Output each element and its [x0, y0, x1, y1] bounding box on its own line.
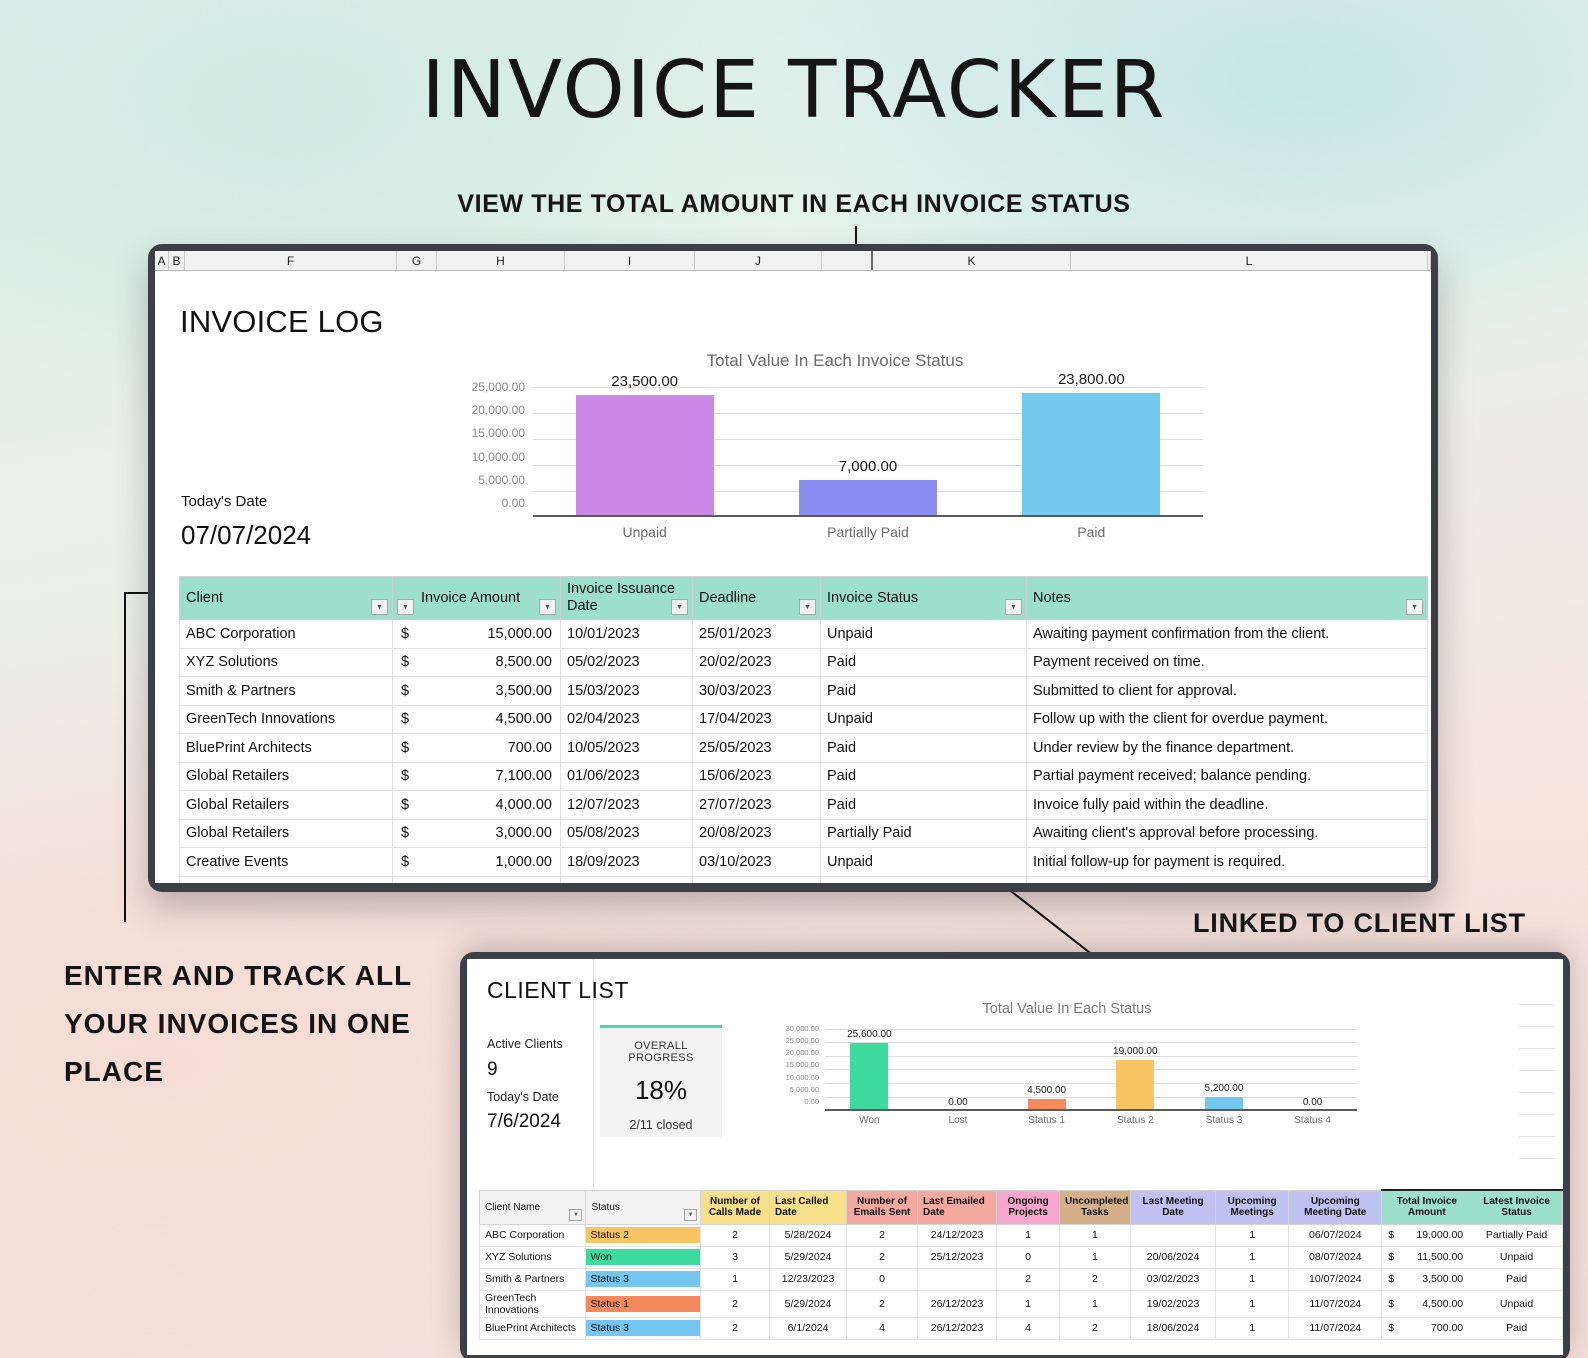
cell-issuance-date[interactable]: 02/04/2023 — [561, 705, 693, 734]
cell-client[interactable]: Global Retailers — [180, 791, 393, 820]
currency-symbol: $ — [401, 882, 409, 883]
cell-last-emailed[interactable]: 25/12/2023 — [918, 1246, 997, 1268]
table-row[interactable]: GreenTech Innovations$4,500.0002/04/2023… — [180, 705, 1428, 734]
bar-rect — [576, 395, 714, 517]
cell-issuance-date[interactable]: 15/03/2023 — [561, 677, 693, 706]
y-tick: 25,000.00 — [453, 380, 525, 394]
connector-line-left — [124, 592, 126, 922]
cell-notes[interactable]: Awaiting client's approval before proces… — [1027, 819, 1428, 848]
client-list-title: CLIENT LIST — [487, 977, 629, 1004]
cell-last-meeting-date[interactable]: 19/02/2023 — [1130, 1290, 1215, 1317]
table-row[interactable]: GreenTech InnovationsStatus 125/29/20242… — [480, 1290, 1563, 1317]
cell-total-invoice-amount[interactable]: $4,500.00 — [1382, 1290, 1471, 1317]
chart-title: Total Value In Each Invoice Status — [455, 351, 1215, 371]
cell-last-called[interactable]: 5/29/2024 — [770, 1246, 847, 1268]
cell-status[interactable]: Status 1 — [586, 1290, 701, 1317]
cell-status[interactable]: Status 2 — [586, 1224, 701, 1246]
bar-paid: 23,800.00 — [1016, 393, 1166, 517]
bar-value-label: 19,000.00 — [1089, 1046, 1181, 1057]
col-header-label: Status — [591, 1202, 619, 1213]
cell-issuance-date[interactable]: 10/01/2023 — [561, 620, 693, 649]
column-header-I[interactable]: I — [565, 251, 695, 270]
cell-deadline[interactable]: 17/04/2023 — [693, 705, 821, 734]
column-header-H[interactable]: H — [437, 251, 565, 270]
status-badge: Status 2 — [586, 1227, 700, 1243]
cell-invoice-status[interactable]: Unpaid — [821, 848, 1027, 877]
x-tick: Paid — [1016, 524, 1166, 540]
currency-symbol: $ — [1388, 1298, 1394, 1310]
cell-last-called[interactable]: 12/23/2023 — [770, 1268, 847, 1290]
chart-x-axis — [533, 515, 1203, 517]
filter-dropdown-icon[interactable]: ▼ — [671, 599, 688, 615]
cell-upcoming-meetings[interactable]: 1 — [1216, 1246, 1289, 1268]
currency-symbol: $ — [1388, 1322, 1394, 1334]
cell-total-invoice-amount[interactable]: $19,000.00 — [1382, 1224, 1471, 1246]
cell-last-called[interactable]: 5/28/2024 — [770, 1224, 847, 1246]
cell-invoice-status[interactable]: Partially Paid — [821, 819, 1027, 848]
col-header-client-name[interactable]: Client Name ▼ — [480, 1190, 586, 1224]
cell-issuance-date[interactable]: 01/06/2023 — [561, 762, 693, 791]
cell-calls-made[interactable]: 2 — [701, 1317, 770, 1339]
column-header-overflow — [1428, 251, 1431, 270]
cell-emails-sent[interactable]: 2 — [847, 1246, 918, 1268]
column-header-blank[interactable] — [822, 251, 873, 270]
y-tick: 15,000.00 — [453, 426, 525, 440]
status-badge: Status 3 — [586, 1320, 700, 1336]
invoice-log-sheet-frame: A B F G H I J K L INVOICE LOG Today's Da… — [155, 251, 1431, 883]
chart-plot-area: 30,000.00 25,000.00 20,000.00 15,000.00 … — [825, 1029, 1357, 1111]
chart-x-axis-labels: Won Lost Status 1 Status 2 Status 3 Stat… — [825, 1115, 1357, 1126]
currency-symbol: $ — [401, 654, 409, 670]
invoice-log-title: INVOICE LOG — [180, 304, 384, 340]
table-row[interactable]: XYZ SolutionsWon35/29/2024225/12/2023012… — [480, 1246, 1563, 1268]
cell-client-name[interactable]: Smith & Partners — [480, 1268, 586, 1290]
col-header-label: Invoice Amount — [399, 590, 554, 607]
chart-y-axis-labels: 25,000.00 20,000.00 15,000.00 10,000.00 … — [453, 380, 525, 510]
cell-notes[interactable]: Invoice fully paid within the deadline. — [1027, 791, 1428, 820]
cell-last-emailed[interactable]: 26/12/2023 — [918, 1317, 997, 1339]
x-tick: Status 3 — [1188, 1115, 1260, 1126]
cell-invoice-status[interactable]: Unpaid — [821, 705, 1027, 734]
col-header-last-emailed[interactable]: Last Emailed Date — [918, 1190, 997, 1224]
cell-client-name[interactable]: BluePrint Architects — [480, 1317, 586, 1339]
bar-value-label: 5,200.00 — [1178, 1083, 1270, 1094]
y-tick: 10,000.00 — [767, 1073, 819, 1082]
col-header-ongoing-projects[interactable]: Ongoing Projects — [997, 1190, 1060, 1224]
cell-upcoming-meeting-date[interactable]: 11/07/2024 — [1289, 1317, 1382, 1339]
cell-emails-sent[interactable]: 4 — [847, 1317, 918, 1339]
cell-issuance-date[interactable]: 05/02/2023 — [561, 648, 693, 677]
overall-progress-card: OVERALL PROGRESS 18% 2/11 closed — [600, 1025, 722, 1137]
cell-client[interactable]: XYZ Solutions — [180, 648, 393, 677]
cell-client[interactable]: Global Retailers — [180, 762, 393, 791]
filter-dropdown-icon[interactable]: ▼ — [397, 599, 414, 615]
currency-symbol: $ — [401, 768, 409, 784]
column-header-A[interactable]: A — [155, 251, 169, 270]
filter-dropdown-icon[interactable]: ▼ — [371, 599, 388, 615]
cell-deadline[interactable]: 03/10/2023 — [693, 848, 821, 877]
cell-deadline[interactable]: 25/01/2023 — [693, 620, 821, 649]
cell-upcoming-meetings[interactable]: 1 — [1216, 1224, 1289, 1246]
cell-deadline[interactable]: 27/07/2023 — [693, 791, 821, 820]
bar-value-label: 0.00 — [912, 1097, 1004, 1108]
cell-last-emailed[interactable]: 26/12/2023 — [918, 1290, 997, 1317]
column-header-L[interactable]: L — [1071, 251, 1428, 270]
cell-last-emailed[interactable]: 24/12/2023 — [918, 1224, 997, 1246]
bar-partially-paid: 7,000.00 — [793, 480, 943, 517]
currency-symbol: $ — [401, 683, 409, 699]
active-clients-label: Active Clients — [487, 1037, 563, 1051]
x-tick: Won — [833, 1115, 905, 1126]
chart-x-axis-labels: Unpaid Partially Paid Paid — [533, 524, 1203, 540]
col-header-last-meeting[interactable]: Last Meeting Date — [1130, 1190, 1215, 1224]
col-header-label: Notes — [1033, 590, 1421, 607]
x-tick: Status 2 — [1099, 1115, 1171, 1126]
col-header-latest-invoice-status[interactable]: Latest Invoice Status — [1471, 1190, 1562, 1224]
cell-latest-invoice-status[interactable]: Unpaid — [1471, 1290, 1562, 1317]
cell-latest-invoice-status[interactable]: Unpaid — [1471, 1246, 1562, 1268]
table-row[interactable]: Global Retailers$3,000.0005/08/202320/08… — [180, 819, 1428, 848]
y-tick: 20,000.00 — [767, 1048, 819, 1057]
cell-client[interactable]: ABC Corporation — [180, 620, 393, 649]
client-todays-date-value: 7/6/2024 — [487, 1111, 561, 1133]
cell-client-name[interactable]: GreenTech Innovations — [480, 1290, 586, 1317]
cell-invoice-status[interactable]: Partially Paid — [821, 876, 1027, 883]
cell-upcoming-meetings[interactable]: 1 — [1216, 1290, 1289, 1317]
x-tick: Partially Paid — [793, 524, 943, 540]
bar-value-label: 7,000.00 — [793, 458, 943, 475]
cell-latest-invoice-status[interactable]: Paid — [1471, 1317, 1562, 1339]
bar-value-label: 0.00 — [1267, 1097, 1359, 1108]
col-header-label: Client Name — [485, 1202, 540, 1213]
currency-symbol: $ — [1388, 1273, 1394, 1285]
cell-invoice-amount[interactable]: $7,100.00 — [393, 762, 561, 791]
bar-rect — [1022, 393, 1160, 517]
cell-notes[interactable]: Payment reminder sent to the client. — [1027, 876, 1428, 883]
cell-ongoing-projects[interactable]: 1 — [997, 1290, 1060, 1317]
cell-calls-made[interactable]: 1 — [701, 1268, 770, 1290]
status-badge: Status 3 — [586, 1271, 700, 1287]
cell-deadline[interactable]: 10/02/2024 — [693, 876, 821, 883]
cell-uncompleted-tasks[interactable]: 1 — [1059, 1224, 1130, 1246]
table-row[interactable]: BluePrint Architects$700.0010/05/202325/… — [180, 734, 1428, 763]
client-list-window: CLIENT LIST Active Clients 9 Today's Dat… — [460, 952, 1570, 1358]
y-tick: 5,000.00 — [453, 473, 525, 487]
cell-client[interactable]: Creative Events — [180, 848, 393, 877]
cell-upcoming-meetings[interactable]: 1 — [1216, 1317, 1289, 1339]
client-todays-date-label: Today's Date — [487, 1090, 559, 1104]
col-header-status[interactable]: Status ▼ — [586, 1190, 701, 1224]
invoice-log-window: A B F G H I J K L INVOICE LOG Today's Da… — [148, 244, 1438, 892]
col-header-label: Invoice Issuance Date — [567, 581, 686, 615]
cell-upcoming-meetings[interactable]: 1 — [1216, 1268, 1289, 1290]
cell-invoice-amount[interactable]: $15,000.00 — [393, 620, 561, 649]
col-header-label: Invoice Status — [827, 590, 1020, 607]
x-tick: Lost — [922, 1115, 994, 1126]
y-tick: 15,000.00 — [767, 1060, 819, 1069]
cell-last-called[interactable]: 6/1/2024 — [770, 1317, 847, 1339]
chart-x-axis — [825, 1109, 1357, 1111]
cell-invoice-amount[interactable]: $3,500.00 — [393, 677, 561, 706]
currency-symbol: $ — [401, 626, 409, 642]
invoice-log-sheet: INVOICE LOG Today's Date 07/07/2024 Tota… — [155, 271, 1431, 883]
table-row[interactable]: ABC Corporation$15,000.0010/01/202325/01… — [180, 620, 1428, 649]
page-title: INVOICE TRACKER — [0, 44, 1588, 136]
cell-total-invoice-amount[interactable]: $700.00 — [1382, 1317, 1471, 1339]
sheet-row-lines — [1519, 1004, 1555, 1180]
bar-rect — [799, 480, 937, 517]
column-header-B[interactable]: B — [169, 251, 185, 270]
cell-deadline[interactable]: 25/05/2023 — [693, 734, 821, 763]
cell-issuance-date[interactable]: 18/09/2023 — [561, 848, 693, 877]
table-row[interactable]: Global Retailers$7,100.0001/06/202315/06… — [180, 762, 1428, 791]
client-list-sheet: CLIENT LIST Active Clients 9 Today's Dat… — [467, 959, 1563, 1355]
bar-value-label: 23,800.00 — [1016, 371, 1166, 388]
col-header-notes[interactable]: Notes ▼ — [1027, 577, 1428, 620]
cell-upcoming-meeting-date[interactable]: 06/07/2024 — [1289, 1224, 1382, 1246]
cell-notes[interactable]: Awaiting payment confirmation from the c… — [1027, 620, 1428, 649]
cell-last-called[interactable]: 5/29/2024 — [770, 1290, 847, 1317]
currency-symbol: $ — [401, 797, 409, 813]
cell-emails-sent[interactable]: 2 — [847, 1290, 918, 1317]
cell-client[interactable]: Global Retailers — [180, 819, 393, 848]
currency-symbol: $ — [401, 854, 409, 870]
chart-plot-area: 25,000.00 20,000.00 15,000.00 10,000.00 … — [533, 387, 1203, 517]
cell-uncompleted-tasks[interactable]: 1 — [1059, 1290, 1130, 1317]
y-tick: 25,000.00 — [767, 1036, 819, 1045]
bar-rect — [1116, 1060, 1154, 1111]
cell-invoice-status[interactable]: Paid — [821, 677, 1027, 706]
filter-dropdown-icon[interactable]: ▼ — [684, 1209, 697, 1221]
y-tick: 30,000.00 — [767, 1024, 819, 1033]
overall-progress-value: 18% — [600, 1075, 722, 1106]
cell-uncompleted-tasks[interactable]: 2 — [1059, 1268, 1130, 1290]
bar-rect — [850, 1043, 888, 1111]
status-badge: Won — [586, 1249, 700, 1265]
cell-invoice-amount[interactable]: $4,000.00 — [393, 791, 561, 820]
filter-dropdown-icon[interactable]: ▼ — [539, 599, 556, 615]
cell-invoice-status[interactable]: Paid — [821, 762, 1027, 791]
annotation-left: ENTER AND TRACK ALL YOUR INVOICES IN ONE… — [64, 952, 464, 1096]
overall-progress-sub: 2/11 closed — [600, 1118, 722, 1132]
cell-issuance-date[interactable]: 10/02/2024 — [561, 876, 693, 883]
filter-dropdown-icon[interactable]: ▼ — [1406, 599, 1423, 615]
cell-latest-invoice-status[interactable]: Paid — [1471, 1268, 1562, 1290]
cell-uncompleted-tasks[interactable]: 1 — [1059, 1246, 1130, 1268]
cell-deadline[interactable]: 30/03/2023 — [693, 677, 821, 706]
chart-bars: 23,500.00 7,000.00 23,800.00 — [533, 387, 1203, 517]
cell-invoice-amount[interactable]: $700.00 — [393, 734, 561, 763]
cell-deadline[interactable]: 15/06/2023 — [693, 762, 821, 791]
cell-invoice-status[interactable]: Paid — [821, 734, 1027, 763]
cell-notes[interactable]: Initial follow-up for payment is require… — [1027, 848, 1428, 877]
cell-deadline[interactable]: 20/02/2023 — [693, 648, 821, 677]
cell-issuance-date[interactable]: 12/07/2023 — [561, 791, 693, 820]
cell-last-emailed[interactable] — [918, 1268, 997, 1290]
cell-ongoing-projects[interactable]: 1 — [997, 1224, 1060, 1246]
cell-last-meeting-date[interactable] — [1130, 1224, 1215, 1246]
cell-upcoming-meeting-date[interactable]: 10/07/2024 — [1289, 1268, 1382, 1290]
overall-progress-label: OVERALL PROGRESS — [600, 1040, 722, 1064]
cell-total-invoice-amount[interactable]: $3,500.00 — [1382, 1268, 1471, 1290]
filter-dropdown-icon[interactable]: ▼ — [569, 1209, 582, 1221]
cell-upcoming-meeting-date[interactable]: 11/07/2024 — [1289, 1290, 1382, 1317]
client-table-header-row: Client Name ▼ Status ▼ Number of Calls M… — [480, 1190, 1563, 1224]
cell-deadline[interactable]: 20/08/2023 — [693, 819, 821, 848]
cell-client[interactable]: Smith & Partners — [180, 677, 393, 706]
cell-ongoing-projects[interactable]: 4 — [997, 1317, 1060, 1339]
status-badge: Status 1 — [586, 1296, 700, 1312]
col-header-total-invoice-amount[interactable]: Total Invoice Amount — [1382, 1190, 1471, 1224]
client-table: Client Name ▼ Status ▼ Number of Calls M… — [479, 1189, 1563, 1340]
table-row[interactable]: Smith & Partners$3,500.0015/03/202330/03… — [180, 677, 1428, 706]
cell-status[interactable]: Status 3 — [586, 1268, 701, 1290]
col-header-deadline[interactable]: Deadline ▼ — [693, 577, 821, 620]
cell-uncompleted-tasks[interactable]: 2 — [1059, 1317, 1130, 1339]
x-tick: Status 1 — [1011, 1115, 1083, 1126]
col-header-emails-sent[interactable]: Number of Emails Sent — [847, 1190, 918, 1224]
column-header-K[interactable]: K — [873, 251, 1071, 270]
invoice-table-header-row: Client ▼ Invoice Amount ▼ ▼ Invoice Issu… — [180, 577, 1428, 620]
cell-notes[interactable]: Submitted to client for approval. — [1027, 677, 1428, 706]
cell-calls-made[interactable]: 3 — [701, 1246, 770, 1268]
cell-client[interactable]: ABC Corporation — [180, 876, 393, 883]
todays-date-value: 07/07/2024 — [181, 520, 311, 551]
bar-value-label: 25,600.00 — [823, 1029, 915, 1040]
spreadsheet-column-headers: A B F G H I J K L — [155, 251, 1431, 271]
cell-invoice-amount[interactable]: $3,000.00 — [393, 819, 561, 848]
y-tick: 0.00 — [767, 1097, 819, 1106]
cell-invoice-amount[interactable]: $8,500.00 — [393, 648, 561, 677]
currency-symbol: $ — [401, 825, 409, 841]
annotation-top: VIEW THE TOTAL AMOUNT IN EACH INVOICE ST… — [0, 190, 1588, 219]
filter-dropdown-icon[interactable]: ▼ — [799, 599, 816, 615]
todays-date-label: Today's Date — [181, 493, 267, 510]
cell-upcoming-meeting-date[interactable]: 08/07/2024 — [1289, 1246, 1382, 1268]
cell-calls-made[interactable]: 2 — [701, 1290, 770, 1317]
y-tick: 0.00 — [453, 496, 525, 510]
cell-invoice-status[interactable]: Paid — [821, 791, 1027, 820]
col-header-invoice-status[interactable]: Invoice Status ▼ — [821, 577, 1027, 620]
table-row[interactable]: Global Retailers$4,000.0012/07/202327/07… — [180, 791, 1428, 820]
col-header-upcoming-meeting-date[interactable]: Upcoming Meeting Date — [1289, 1190, 1382, 1224]
currency-symbol: $ — [401, 740, 409, 756]
chart-bars: 25,600.00 0.00 4,500.00 19,000.00 — [825, 1029, 1357, 1111]
cell-notes[interactable]: Payment received on time. — [1027, 648, 1428, 677]
cell-invoice-status[interactable]: Unpaid — [821, 620, 1027, 649]
cell-emails-sent[interactable]: 2 — [847, 1224, 918, 1246]
table-row[interactable]: Smith & PartnersStatus 3112/23/202302203… — [480, 1268, 1563, 1290]
col-header-upcoming-meetings[interactable]: Upcoming Meetings — [1216, 1190, 1289, 1224]
cell-emails-sent[interactable]: 0 — [847, 1268, 918, 1290]
y-tick: 20,000.00 — [453, 403, 525, 417]
col-header-calls-made[interactable]: Number of Calls Made — [701, 1190, 770, 1224]
col-header-label: Deadline — [699, 590, 814, 607]
cell-last-meeting-date[interactable]: 03/02/2023 — [1130, 1268, 1215, 1290]
x-tick: Unpaid — [570, 524, 720, 540]
client-status-chart: Total Value In Each Status 30,000.00 25,… — [767, 1001, 1367, 1156]
cell-last-meeting-date[interactable]: 18/06/2024 — [1130, 1317, 1215, 1339]
cell-total-invoice-amount[interactable]: $11,500.00 — [1382, 1246, 1471, 1268]
table-row[interactable]: ABC CorporationStatus 225/28/2024224/12/… — [480, 1224, 1563, 1246]
cell-notes[interactable]: Follow up with the client for overdue pa… — [1027, 705, 1428, 734]
col-header-label: Client — [186, 590, 386, 607]
active-clients-value: 9 — [487, 1059, 498, 1081]
bar-unpaid: 23,500.00 — [570, 395, 720, 517]
cell-client[interactable]: BluePrint Architects — [180, 734, 393, 763]
cell-client[interactable]: GreenTech Innovations — [180, 705, 393, 734]
column-header-F[interactable]: F — [185, 251, 397, 270]
cell-calls-made[interactable]: 2 — [701, 1224, 770, 1246]
col-header-invoice-amount[interactable]: Invoice Amount ▼ ▼ — [393, 577, 561, 620]
currency-symbol: $ — [1388, 1251, 1394, 1263]
y-tick: 10,000.00 — [453, 450, 525, 464]
cell-notes[interactable]: Partial payment received; balance pendin… — [1027, 762, 1428, 791]
table-row[interactable]: ABC Corporation$4,000.0010/02/202410/02/… — [180, 876, 1428, 883]
annotation-right: LINKED TO CLIENT LIST — [1193, 908, 1526, 939]
cell-invoice-amount[interactable]: $1,000.00 — [393, 848, 561, 877]
cell-invoice-amount[interactable]: $4,000.00 — [393, 876, 561, 883]
col-header-issuance-date[interactable]: Invoice Issuance Date ▼ — [561, 577, 693, 620]
bar-won: 25,600.00 — [833, 1043, 905, 1111]
col-header-client[interactable]: Client ▼ — [180, 577, 393, 620]
cell-issuance-date[interactable]: 05/08/2023 — [561, 819, 693, 848]
filter-dropdown-icon[interactable]: ▼ — [1005, 599, 1022, 615]
cell-ongoing-projects[interactable]: 0 — [997, 1246, 1060, 1268]
currency-symbol: $ — [1388, 1229, 1394, 1241]
cell-notes[interactable]: Under review by the finance department. — [1027, 734, 1428, 763]
column-header-J[interactable]: J — [695, 251, 822, 270]
chart-y-axis-labels: 30,000.00 25,000.00 20,000.00 15,000.00 … — [767, 1024, 819, 1106]
cell-invoice-amount[interactable]: $4,500.00 — [393, 705, 561, 734]
table-row[interactable]: Creative Events$1,000.0018/09/202303/10/… — [180, 848, 1428, 877]
bar-value-label: 23,500.00 — [570, 373, 720, 390]
currency-symbol: $ — [401, 711, 409, 727]
cell-invoice-status[interactable]: Paid — [821, 648, 1027, 677]
x-tick: Status 4 — [1277, 1115, 1349, 1126]
bar-status-2: 19,000.00 — [1099, 1060, 1171, 1111]
cell-status[interactable]: Won — [586, 1246, 701, 1268]
column-header-G[interactable]: G — [397, 251, 437, 270]
y-tick: 5,000.00 — [767, 1085, 819, 1094]
bar-value-label: 4,500.00 — [1001, 1085, 1093, 1096]
table-row[interactable]: XYZ Solutions$8,500.0005/02/202320/02/20… — [180, 648, 1428, 677]
table-row[interactable]: BluePrint ArchitectsStatus 326/1/2024426… — [480, 1317, 1563, 1339]
cell-ongoing-projects[interactable]: 2 — [997, 1268, 1060, 1290]
col-header-last-called[interactable]: Last Called Date — [770, 1190, 847, 1224]
invoice-status-chart: Total Value In Each Invoice Status 25,00… — [455, 351, 1215, 551]
col-header-uncompleted-tasks[interactable]: Uncompleted Tasks — [1059, 1190, 1130, 1224]
cell-last-meeting-date[interactable]: 20/06/2024 — [1130, 1246, 1215, 1268]
cell-latest-invoice-status[interactable]: Partially Paid — [1471, 1224, 1562, 1246]
chart-title: Total Value In Each Status — [767, 1001, 1367, 1017]
cell-status[interactable]: Status 3 — [586, 1317, 701, 1339]
cell-client-name[interactable]: ABC Corporation — [480, 1224, 586, 1246]
invoice-table: Client ▼ Invoice Amount ▼ ▼ Invoice Issu… — [179, 576, 1428, 883]
cell-issuance-date[interactable]: 10/05/2023 — [561, 734, 693, 763]
cell-client-name[interactable]: XYZ Solutions — [480, 1246, 586, 1268]
